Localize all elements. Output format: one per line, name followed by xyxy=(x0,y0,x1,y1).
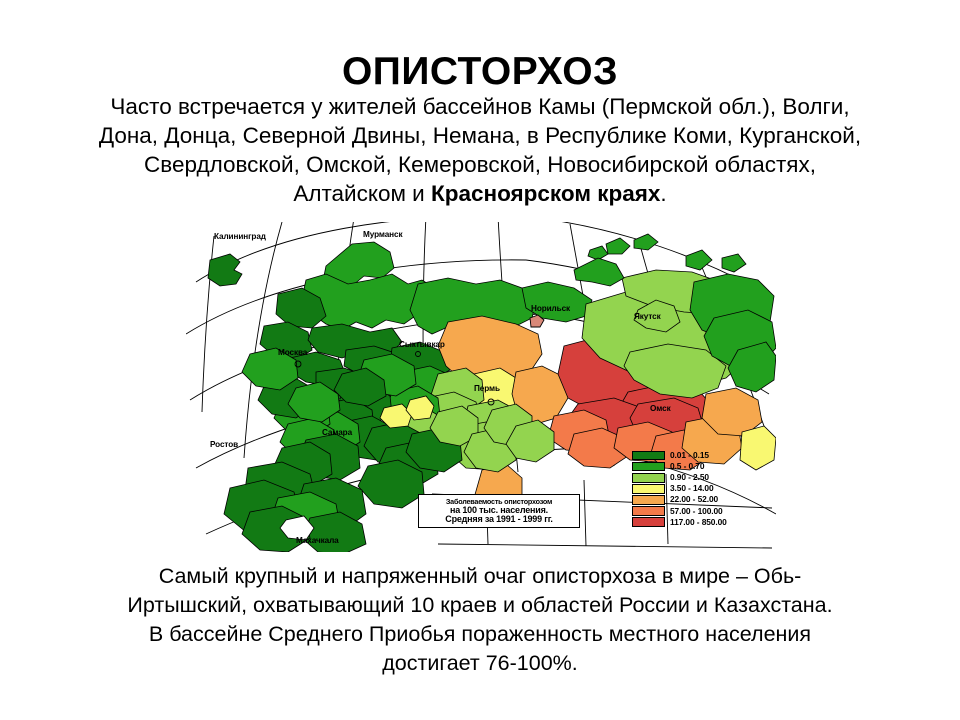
map-caption-box: Заболеваемость описторхозом на 100 тыс. … xyxy=(418,494,580,528)
legend-swatch-icon xyxy=(632,462,665,472)
legend-range-label: 0.5 - 0.70 xyxy=(670,462,704,471)
legend-swatch-icon xyxy=(632,506,665,516)
legend-swatch-icon xyxy=(632,495,665,505)
legend-row: 0.01 - 0.15 xyxy=(632,450,760,461)
intro-line-4-suffix: . xyxy=(660,181,666,206)
page-title: ОПИСТОРХОЗ xyxy=(0,52,960,93)
legend-row: 117.00 - 850.00 xyxy=(632,517,760,528)
region-island-nz xyxy=(574,258,624,286)
outro-line-2: Иртышский, охватывающий 10 краев и облас… xyxy=(34,591,926,620)
region-kaliningrad xyxy=(208,254,242,286)
russia-incidence-map: Калининград Мурманск Норильск Якутск Сык… xyxy=(186,222,776,552)
intro-line-2: Дона, Донца, Северной Двины, Немана, в Р… xyxy=(28,121,932,150)
intro-highlight-region: Красноярском краях xyxy=(431,181,660,206)
map-caption-line-3: Средняя за 1991 - 1999 гг. xyxy=(421,515,577,523)
outro-line-4: достигает 76-100%. xyxy=(34,649,926,678)
region-island-2 xyxy=(634,234,658,250)
intro-line-4: Алтайском и Красноярском краях. xyxy=(28,179,932,208)
legend-swatch-icon xyxy=(632,517,665,527)
legend-row: 57.00 - 100.00 xyxy=(632,505,760,516)
intro-line-4-prefix: Алтайском и xyxy=(293,181,431,206)
outro-line-3: В бассейне Среднего Приобья пораженность… xyxy=(34,620,926,649)
outro-paragraph: Самый крупный и напряженный очаг опистор… xyxy=(34,562,926,678)
legend-row: 3.50 - 14.00 xyxy=(632,483,760,494)
region-island-sz xyxy=(686,250,712,270)
map-legend: 0.01 - 0.15 0.5 - 0.70 0.90 - 2.50 3.50 … xyxy=(632,450,760,528)
region-island-wrangel xyxy=(722,254,746,272)
region-island-1 xyxy=(606,238,630,254)
slide-root: ОПИСТОРХОЗ Часто встречается у жителей б… xyxy=(0,0,960,720)
intro-line-1: Часто встречается у жителей бассейнов Ка… xyxy=(28,92,932,121)
legend-range-label: 117.00 - 850.00 xyxy=(670,518,727,527)
legend-range-label: 57.00 - 100.00 xyxy=(670,507,723,516)
legend-swatch-icon xyxy=(632,473,665,483)
legend-row: 0.5 - 0.70 xyxy=(632,461,760,472)
legend-swatch-icon xyxy=(632,451,665,461)
intro-paragraph: Часто встречается у жителей бассейнов Ка… xyxy=(28,92,932,208)
legend-row: 22.00 - 52.00 xyxy=(632,494,760,505)
outro-line-1: Самый крупный и напряженный очаг опистор… xyxy=(34,562,926,591)
legend-range-label: 0.01 - 0.15 xyxy=(670,451,709,460)
legend-range-label: 0.90 - 2.50 xyxy=(670,473,709,482)
legend-swatch-icon xyxy=(632,484,665,494)
legend-row: 0.90 - 2.50 xyxy=(632,472,760,483)
intro-line-3: Свердловской, Омской, Кемеровской, Новос… xyxy=(28,150,932,179)
legend-range-label: 3.50 - 14.00 xyxy=(670,484,714,493)
legend-range-label: 22.00 - 52.00 xyxy=(670,495,718,504)
